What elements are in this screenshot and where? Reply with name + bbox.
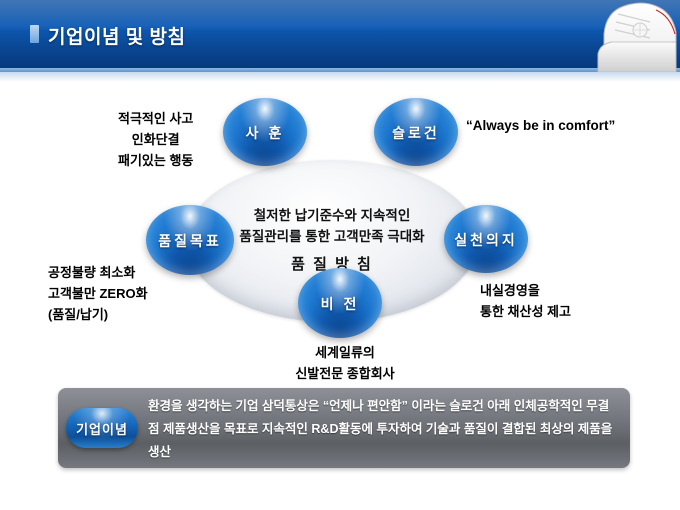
orb-vision-label: 비 전 xyxy=(321,294,360,314)
orb-sahun[interactable]: 사 훈 xyxy=(223,98,307,166)
orb-vision[interactable]: 비 전 xyxy=(298,268,382,338)
orb-quality-goal[interactable]: 품질목표 xyxy=(146,205,234,275)
orb-sahun-label: 사 훈 xyxy=(246,123,285,143)
caption-slogan: “Always be in comfort” xyxy=(466,115,615,136)
caption-sahun: 적극적인 사고 인화단결 패기있는 행동 xyxy=(118,108,193,171)
caption-quality-goal: 공정불량 최소화 고객불만 ZERO화 (품질/납기) xyxy=(48,262,148,325)
footer-badge-label: 기업이념 xyxy=(76,419,128,438)
orb-slogan[interactable]: 슬로건 xyxy=(374,98,458,166)
sneaker-photo xyxy=(500,0,680,72)
orb-slogan-label: 슬로건 xyxy=(392,123,440,143)
orb-will[interactable]: 실천의지 xyxy=(444,205,528,273)
title-accent-bar xyxy=(30,25,39,43)
page-title: 기업이념 및 방침 xyxy=(48,22,185,49)
header-bottom-fade xyxy=(0,72,680,82)
footer-text: 환경을 생각하는 기업 삼덕통상은 “언제나 편안함” 이라는 슬로건 아래 인… xyxy=(148,395,618,464)
footer-badge: 기업이념 xyxy=(66,408,138,448)
slide-canvas: 기업이념 및 방침 xyxy=(0,0,680,510)
orb-quality-goal-label: 품질목표 xyxy=(158,231,222,251)
center-text-line-1: 철저한 납기준수와 지속적인 xyxy=(186,204,478,224)
orb-will-label: 실천의지 xyxy=(454,230,518,250)
caption-will: 내실경영을 통한 채산성 제고 xyxy=(480,280,571,322)
caption-vision: 세계일류의 신발전문 종합회사 xyxy=(270,342,420,384)
